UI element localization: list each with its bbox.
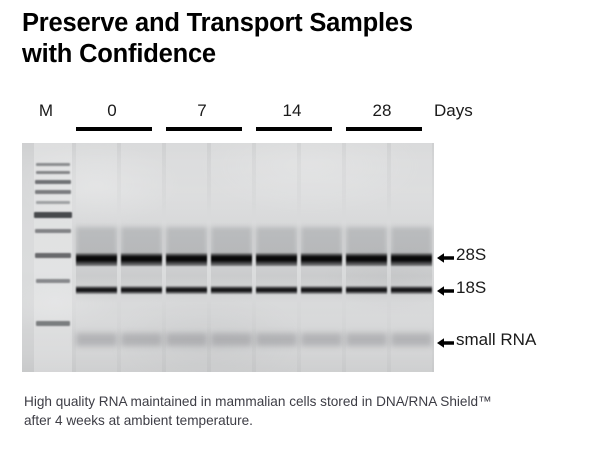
sample-lane-day0-a <box>76 143 117 372</box>
band-18s <box>76 286 117 294</box>
timepoint-rule-3 <box>346 127 422 131</box>
annotation-18s-label: 18S <box>456 278 486 298</box>
sample-lane-day7-b <box>211 143 252 372</box>
ladder-band-2 <box>36 171 70 174</box>
marker-lane-label: M <box>33 101 59 121</box>
ladder-band-5 <box>36 201 70 204</box>
annotation-28s: 28S <box>437 245 486 265</box>
band-small-rna <box>166 333 207 346</box>
timepoint-label-2: 14 <box>250 101 334 121</box>
band-28s <box>166 253 207 266</box>
page-title: Preserve and Transport Samples with Conf… <box>22 8 562 70</box>
page-title-line-1: Preserve and Transport Samples <box>22 8 562 39</box>
left-arrow-icon <box>437 334 454 346</box>
figure-caption: High quality RNA maintained in mammalian… <box>24 392 580 430</box>
timepoint-rule-0 <box>76 127 152 131</box>
band-small-rna <box>211 333 252 346</box>
ladder-band-8 <box>35 253 71 258</box>
band-small-rna <box>346 333 387 346</box>
timepoint-label-3: 28 <box>340 101 424 121</box>
sample-lane-day14-a <box>256 143 297 372</box>
sample-lane-day14-b <box>301 143 342 372</box>
annotation-small-rna: small RNA <box>437 330 536 350</box>
page-title-line-2: with Confidence <box>22 39 562 70</box>
band-28s <box>211 253 252 266</box>
ladder-band-10 <box>36 321 70 326</box>
band-28s <box>346 253 387 266</box>
sample-lane-day28-a <box>346 143 387 372</box>
ladder-band-7 <box>35 229 71 233</box>
band-28s <box>391 253 432 266</box>
band-18s <box>121 286 162 294</box>
ladder-band-3 <box>35 180 71 184</box>
band-18s <box>256 286 297 294</box>
sample-lane-day0-b <box>121 143 162 372</box>
figure-caption-line-2: after 4 weeks at ambient temperature. <box>24 411 580 430</box>
ladder-band-4 <box>35 190 71 194</box>
band-28s <box>76 253 117 266</box>
band-18s <box>346 286 387 294</box>
annotation-small-rna-label: small RNA <box>456 330 536 350</box>
band-18s <box>166 286 207 294</box>
ladder-band-9 <box>36 279 70 283</box>
band-28s <box>121 253 162 266</box>
left-arrow-icon <box>437 249 454 261</box>
band-28s <box>256 253 297 266</box>
gel-electrophoresis-image <box>22 143 434 372</box>
band-18s <box>301 286 342 294</box>
sample-lane-day28-b <box>391 143 432 372</box>
timepoint-rule-1 <box>166 127 242 131</box>
band-small-rna <box>121 333 162 346</box>
figure-caption-line-1: High quality RNA maintained in mammalian… <box>24 392 580 411</box>
left-arrow-icon <box>437 282 454 294</box>
band-small-rna <box>301 333 342 346</box>
days-unit-label: Days <box>434 101 494 121</box>
band-small-rna <box>76 333 117 346</box>
gel-header-row: M 0 7 14 28 Days <box>22 101 522 137</box>
band-small-rna <box>256 333 297 346</box>
sample-lane-day7-a <box>166 143 207 372</box>
band-18s <box>391 286 432 294</box>
timepoint-rule-2 <box>256 127 332 131</box>
band-small-rna <box>391 333 432 346</box>
ladder-band-1 <box>36 163 70 166</box>
annotation-28s-label: 28S <box>456 245 486 265</box>
timepoint-label-1: 7 <box>160 101 244 121</box>
ladder-lane <box>34 143 72 372</box>
ladder-band-6 <box>34 212 72 218</box>
annotation-18s: 18S <box>437 278 486 298</box>
timepoint-label-0: 0 <box>70 101 154 121</box>
band-18s <box>211 286 252 294</box>
band-28s <box>301 253 342 266</box>
